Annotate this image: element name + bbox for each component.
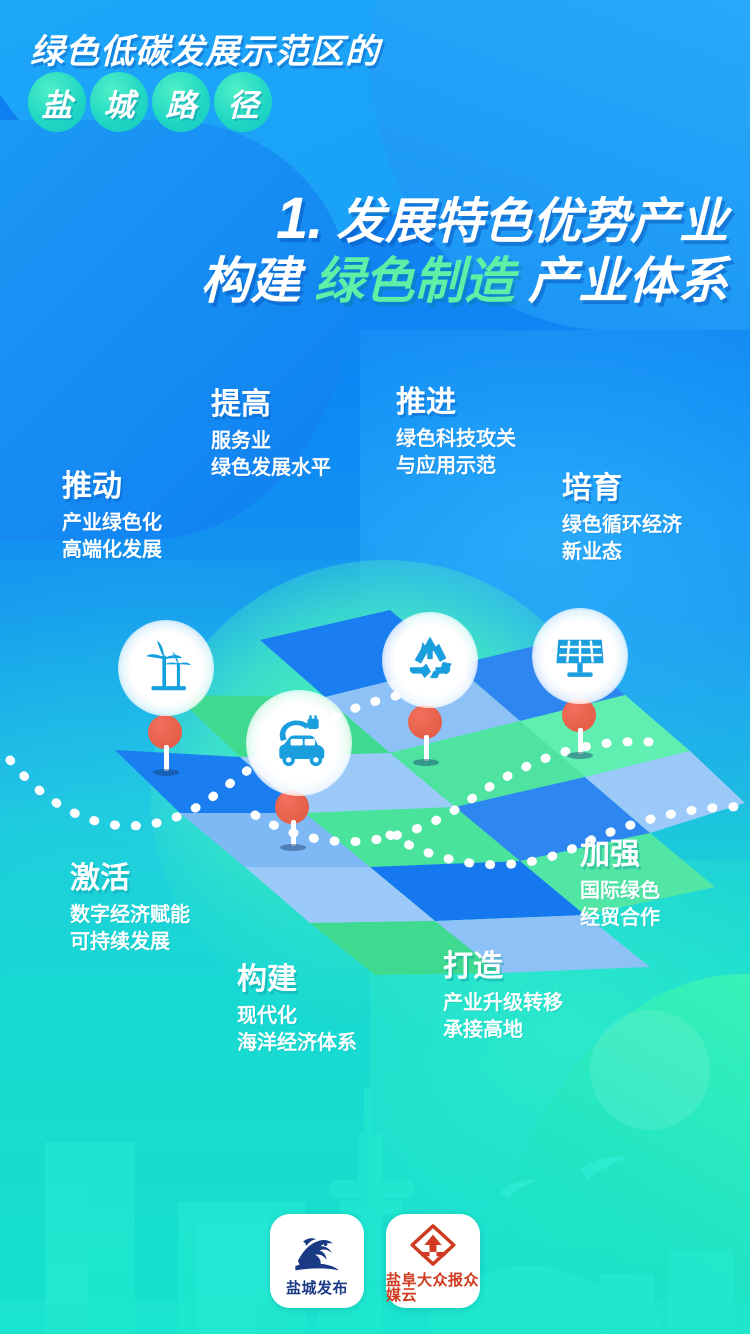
badge-circle: 径 [214, 72, 272, 132]
footer-logos: 盐城发布 盐阜大众报众媒云 [0, 1214, 750, 1308]
poster-root: 绿色低碳发展示范区的 盐 城 路 径 1. 发展特色优势产业 构建 绿色制造 产… [0, 0, 750, 1334]
label-head: 提高 [211, 388, 331, 421]
label-sub-line: 可持续发展 [70, 929, 190, 956]
wind-turbine-icon [118, 620, 214, 716]
label-sub-line: 高端化发展 [62, 537, 162, 564]
label-sub-line: 承接高地 [443, 1017, 563, 1044]
electric-car-icon [246, 690, 352, 796]
pin-stick [578, 728, 583, 754]
label-head: 推动 [62, 470, 162, 503]
main-title: 1. 发展特色优势产业 构建 绿色制造 产业体系 [0, 188, 750, 308]
label-jiaqiang: 加强 国际绿色 经贸合作 [580, 838, 660, 932]
solar-panel-icon [532, 608, 628, 704]
label-sub-line: 新业态 [562, 539, 682, 566]
recycle-icon [382, 612, 478, 708]
diamond-glyph [407, 1222, 459, 1268]
title-line-1: 1. 发展特色优势产业 [0, 188, 728, 249]
label-goujian: 构建 现代化 海洋经济体系 [237, 963, 357, 1057]
map-pin [408, 705, 444, 763]
title-line-2: 构建 绿色制造 产业体系 [0, 255, 728, 308]
badge-char: 路 [166, 80, 197, 125]
label-jihuo: 激活 数字经济赋能 可持续发展 [70, 862, 190, 956]
pin-shadow [413, 759, 439, 766]
badge-circle: 路 [152, 72, 210, 132]
label-sub-line: 与应用示范 [396, 453, 516, 480]
pin-stick [291, 820, 296, 846]
label-sub-line: 绿色科技攻关 [396, 426, 516, 453]
logo-caption: 盐城发布 [286, 1281, 348, 1296]
label-tigao: 提高 服务业 绿色发展水平 [211, 388, 331, 482]
pin-ball [408, 705, 442, 739]
label-head: 激活 [70, 862, 190, 895]
label-head: 培育 [562, 472, 682, 505]
title-number: 1. [276, 186, 322, 251]
pin-stick [424, 735, 429, 761]
badge-char: 盐 [42, 80, 73, 125]
label-dazao: 打造 产业升级转移 承接高地 [443, 950, 563, 1044]
wind-turbine-glyph [137, 639, 195, 697]
title-line-2-pre: 构建 [200, 253, 300, 309]
label-head: 构建 [237, 963, 357, 996]
label-peiyu: 培育 绿色循环经济 新业态 [562, 472, 682, 566]
badge-circle: 盐 [28, 72, 86, 132]
kicker-text: 绿色低碳发展示范区的 [30, 24, 380, 73]
title-line-2-post: 产业体系 [528, 253, 728, 309]
label-sub-line: 产业升级转移 [443, 990, 563, 1017]
pin-shadow [153, 769, 179, 776]
pin-shadow [280, 844, 306, 851]
label-sub-line: 海洋经济体系 [237, 1030, 357, 1057]
logo-yancheng-fabu[interactable]: 盐城发布 [270, 1214, 364, 1308]
pin-stick [164, 745, 169, 771]
logo-yanfu-dazhong[interactable]: 盐阜大众报众媒云 [386, 1214, 480, 1308]
label-sub-line: 经贸合作 [580, 905, 660, 932]
phoenix-glyph [291, 1231, 343, 1275]
title-highlight: 绿色制造 [314, 253, 514, 309]
badge-char: 城 [104, 80, 135, 125]
map-pin [148, 715, 184, 773]
label-head: 推进 [396, 386, 516, 419]
badge-circle: 城 [90, 72, 148, 132]
map-pin [562, 698, 598, 756]
recycle-glyph [401, 631, 459, 689]
pin-shadow [567, 752, 593, 759]
label-sub-line: 国际绿色 [580, 878, 660, 905]
label-sub-line: 绿色发展水平 [211, 455, 331, 482]
map-pin [275, 790, 311, 848]
label-sub-line: 绿色循环经济 [562, 512, 682, 539]
label-head: 打造 [443, 950, 563, 983]
label-sub-line: 数字经济赋能 [70, 902, 190, 929]
phoenix-emblem-icon [291, 1227, 343, 1279]
badge-circle-row: 盐 城 路 径 [28, 72, 272, 132]
label-sub-line: 产业绿色化 [62, 510, 162, 537]
label-tuidong: 推动 产业绿色化 高端化发展 [62, 470, 162, 564]
label-head: 加强 [580, 838, 660, 871]
label-sub-line: 现代化 [237, 1003, 357, 1030]
pin-ball [148, 715, 182, 749]
solar-panel-glyph [551, 627, 609, 685]
badge-char: 径 [228, 80, 259, 125]
label-sub-line: 服务业 [211, 428, 331, 455]
title-line-1-text: 发展特色优势产业 [336, 195, 728, 249]
logo-caption: 盐阜大众报众媒云 [386, 1273, 480, 1303]
diamond-emblem-icon [407, 1219, 459, 1271]
electric-car-glyph [266, 713, 332, 773]
label-tuijin: 推进 绿色科技攻关 与应用示范 [396, 386, 516, 480]
